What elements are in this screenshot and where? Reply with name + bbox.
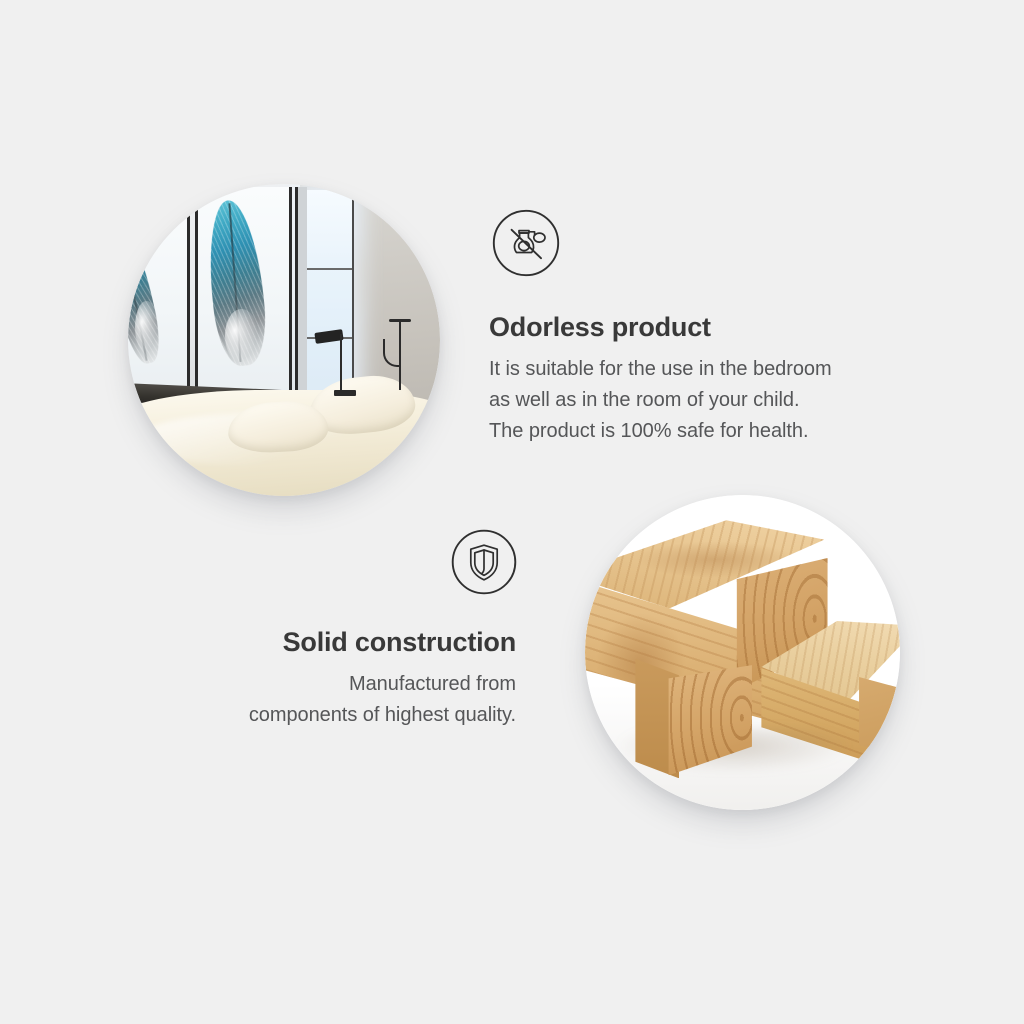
solid-construction-feature-text: Solid construction Manufactured from com…	[150, 626, 516, 731]
reading-lamp-stem	[340, 334, 342, 396]
feather-canvas-panel-2	[195, 187, 292, 405]
infographic-canvas: Odorless product It is suitable for the …	[0, 0, 1024, 1024]
bedroom-with-feather-wall-art-photo	[128, 184, 440, 496]
solid-construction-feature-body: Manufactured from components of highest …	[150, 669, 516, 731]
wooden-beams-photo	[585, 495, 900, 810]
body-line: It is suitable for the use in the bedroo…	[489, 354, 929, 385]
photo-clip	[585, 495, 900, 810]
feather-canvas-panel-1	[128, 187, 190, 405]
bedroom-scene	[128, 184, 440, 496]
feather-wisp	[135, 301, 158, 353]
body-line: as well as in the room of your child.	[489, 385, 929, 416]
solid-construction-feature-title: Solid construction	[150, 626, 516, 658]
odorless-feature-text: Odorless product It is suitable for the …	[489, 311, 929, 447]
no-odor-perfume-bottle-icon	[492, 209, 560, 277]
body-line: The product is 100% safe for health.	[489, 416, 929, 447]
reading-lamp-base	[334, 390, 356, 396]
feather-wisp	[225, 309, 258, 361]
feather-canvas-panel-3	[295, 187, 307, 405]
wood-scene	[585, 495, 900, 810]
shield-icon	[451, 529, 517, 595]
body-line: Manufactured from	[150, 669, 516, 700]
odorless-feature-title: Odorless product	[489, 311, 929, 343]
wall-lamp	[399, 321, 401, 390]
body-line: components of highest quality.	[150, 700, 516, 731]
photo-clip	[128, 184, 440, 496]
odorless-feature-body: It is suitable for the use in the bedroo…	[489, 354, 929, 447]
